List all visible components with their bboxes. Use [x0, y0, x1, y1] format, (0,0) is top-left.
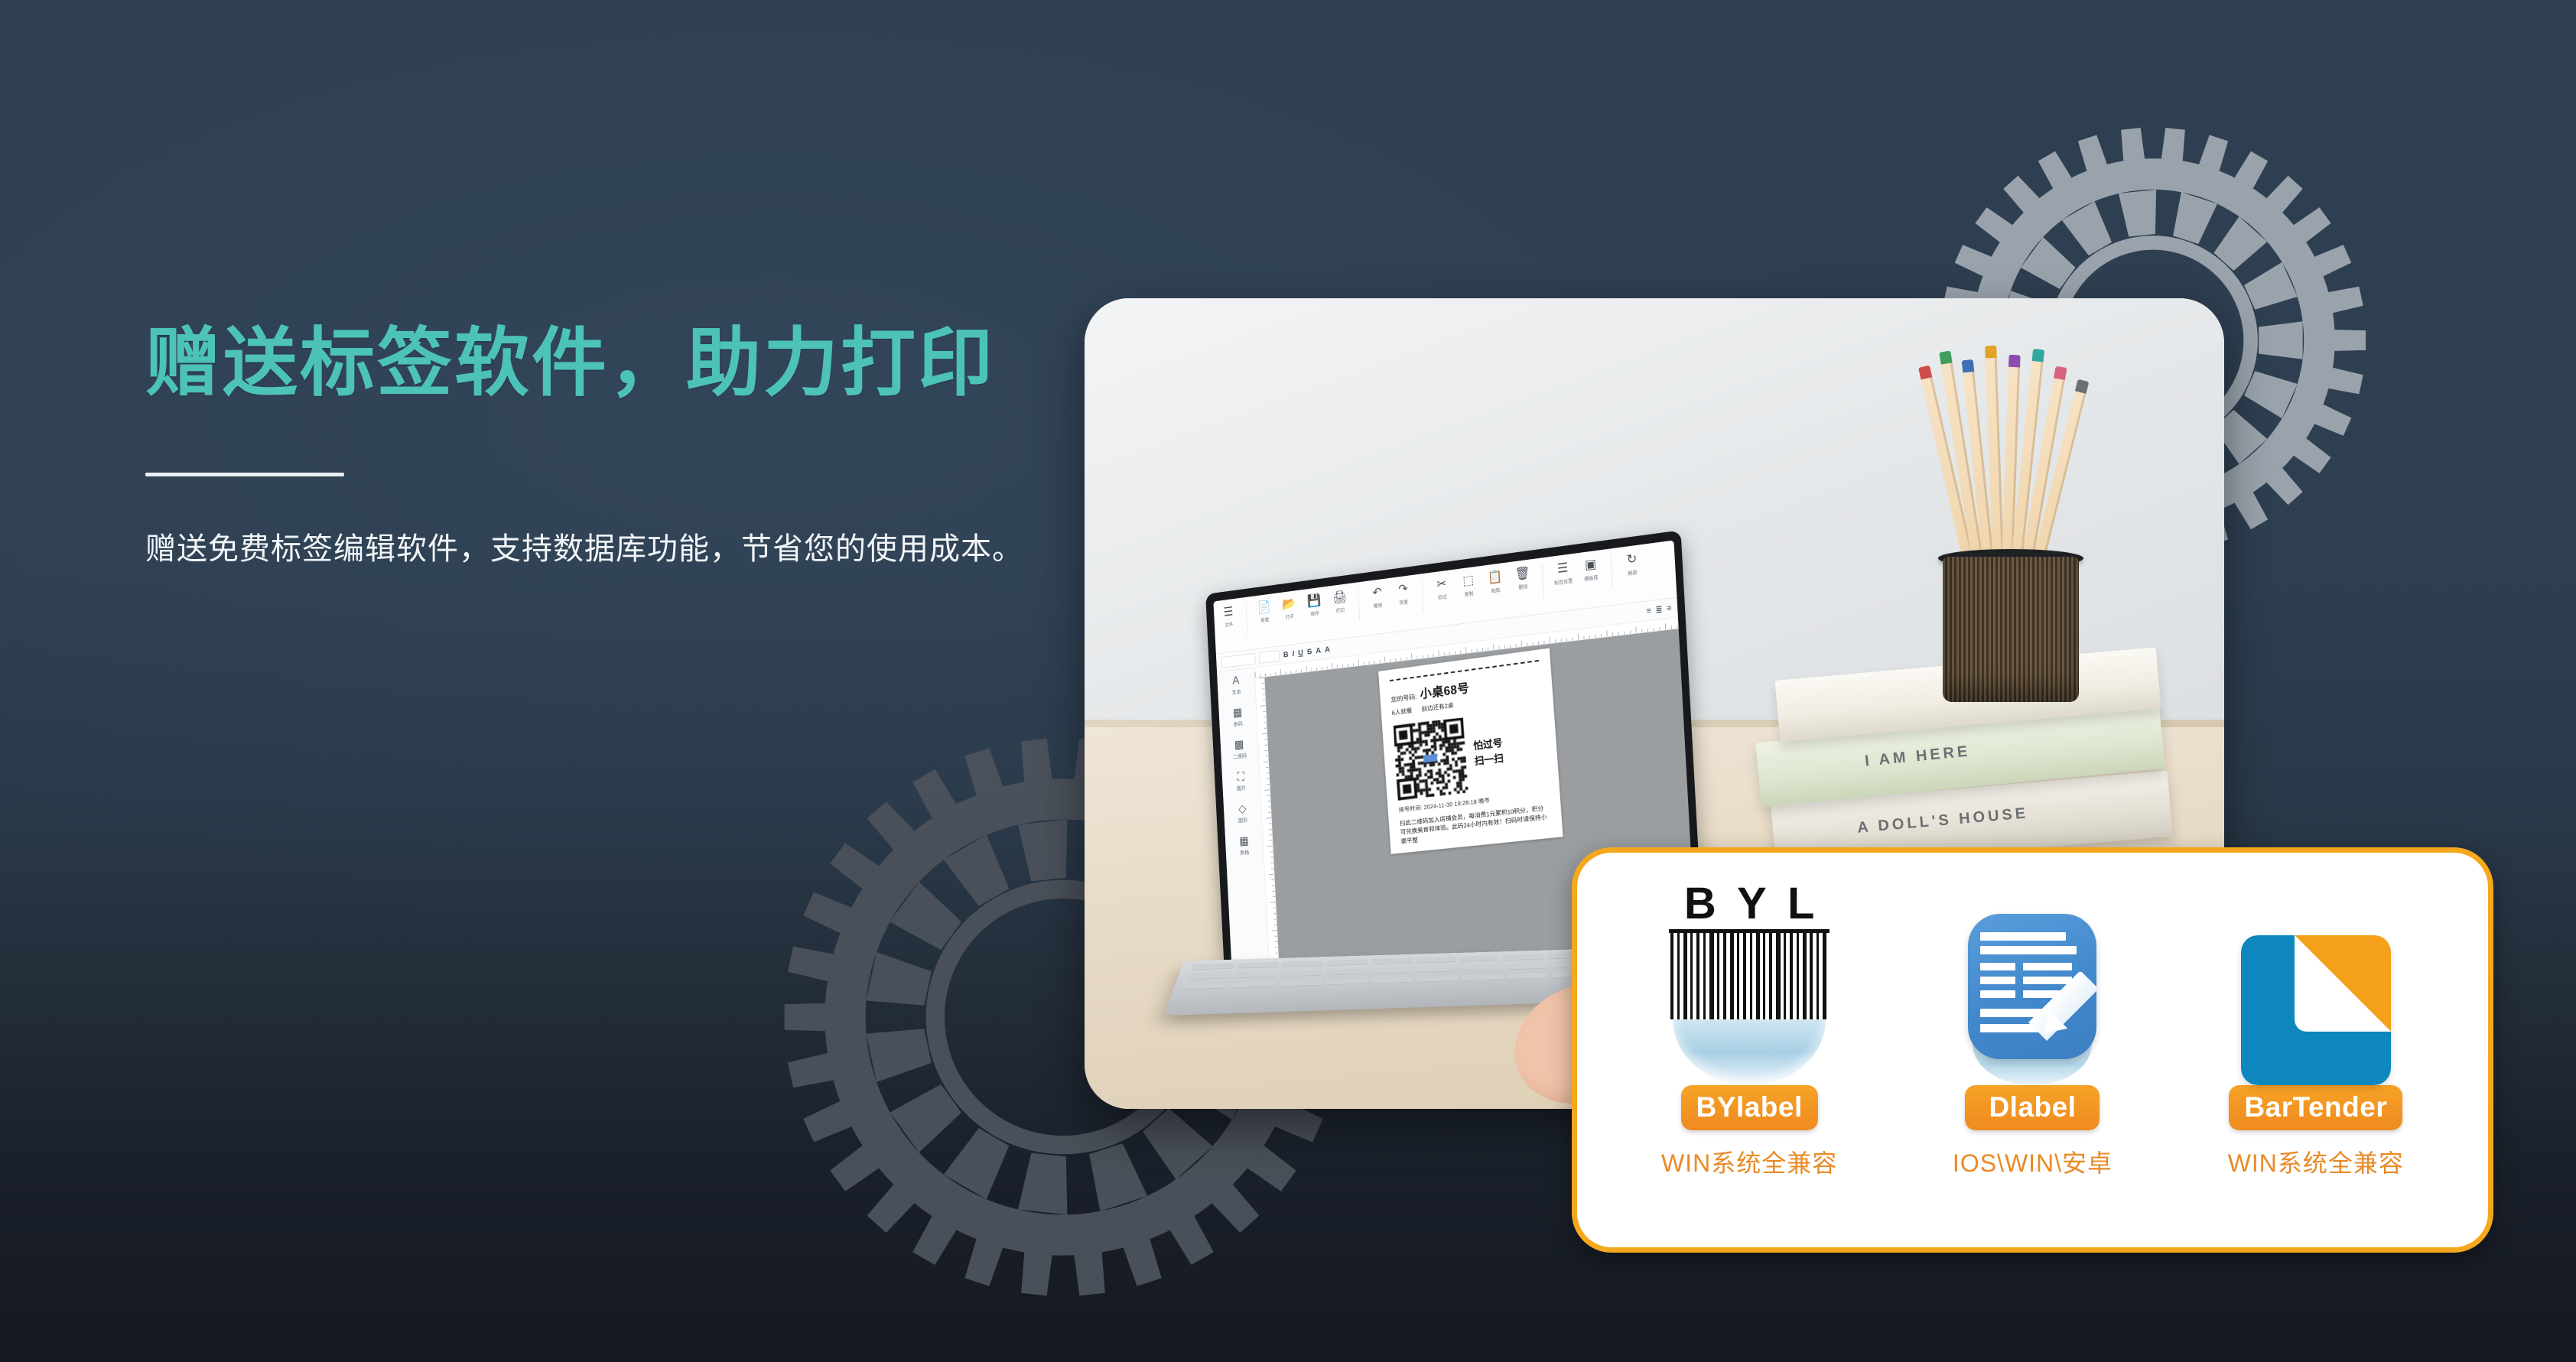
barcode-bar	[1756, 933, 1760, 1019]
ribbon-label: 新建	[1256, 616, 1273, 624]
font-size-select[interactable]	[1259, 650, 1280, 664]
ruler-tick	[1427, 655, 1428, 658]
ruler-tick	[1264, 722, 1266, 723]
ribbon-item[interactable]: ↻ 刷新	[1621, 549, 1644, 578]
text-tool-icon[interactable]: A	[1231, 675, 1241, 688]
ruler-tick	[1268, 812, 1270, 813]
ruler-tick	[1272, 930, 1277, 931]
ribbon-item[interactable]: 📄 新建	[1254, 598, 1275, 625]
ribbon-separator	[1422, 580, 1424, 613]
label-preview[interactable]: 您的号码: 小桌68号 6人就餐 前边还有2桌	[1378, 648, 1563, 853]
open-folder-icon[interactable]: 📂	[1279, 594, 1299, 613]
ruler-tick	[1455, 652, 1456, 655]
ruler-tick	[1266, 767, 1268, 768]
strikethrough-button[interactable]: S	[1307, 647, 1312, 656]
ruler-tick	[1269, 829, 1271, 830]
sidebar-tool-text[interactable]: A 文本	[1231, 675, 1241, 697]
ruler-tick	[1533, 642, 1534, 645]
ribbon-item[interactable]: 💾 保存	[1304, 591, 1325, 619]
italic-button[interactable]: I	[1292, 649, 1294, 658]
barcode-bar	[1776, 933, 1781, 1019]
ruler-tick	[1493, 644, 1494, 650]
ruler-tick	[1499, 646, 1500, 649]
ruler-tick	[1280, 669, 1281, 674]
barcode-bar	[1737, 933, 1739, 1019]
ruler-tick	[1311, 668, 1312, 671]
barcode-bar	[1709, 933, 1714, 1019]
sidebar-tool-label: 图形	[1238, 816, 1248, 824]
copy-icon[interactable]: ⬚	[1458, 570, 1479, 589]
barcode-bar	[1817, 933, 1819, 1019]
text-color-button[interactable]: A	[1316, 646, 1321, 655]
ruler-tick	[1595, 635, 1595, 638]
ruler-tick	[1263, 762, 1268, 763]
barcode-bar	[1670, 933, 1673, 1019]
keyboard-key[interactable]	[1507, 973, 1549, 980]
qr-code-icon	[1393, 717, 1469, 801]
align-left-icon[interactable]: ≡	[1646, 606, 1651, 616]
ruler-tick	[1255, 672, 1256, 678]
ribbon-label: 删除	[1514, 582, 1534, 591]
ruler-tick	[1566, 638, 1567, 641]
ruler-tick	[1275, 947, 1277, 948]
keyboard-key[interactable]	[1416, 975, 1459, 982]
ruler-tick	[1262, 694, 1264, 695]
shape-tool-icon[interactable]: ◇	[1238, 804, 1247, 816]
ruler-tick	[1647, 629, 1648, 632]
ruler-tick	[1274, 925, 1277, 925]
align-right-icon[interactable]: ≡	[1667, 603, 1672, 613]
barcode-bar	[1723, 933, 1726, 1019]
sidebar-tool-label: 二维码	[1232, 752, 1247, 761]
ruler-tick	[1433, 654, 1434, 657]
ruler-tick	[1472, 649, 1472, 652]
ruler-tick	[1358, 660, 1359, 666]
barcode-bar	[1703, 933, 1706, 1019]
ruler-tick	[1482, 648, 1483, 651]
bylabel-letters: B Y L	[1669, 882, 1830, 929]
ribbon-label: 打开	[1281, 613, 1299, 621]
ribbon-item[interactable]: ▣ 模板库	[1579, 554, 1602, 583]
barcode-bar	[1803, 933, 1807, 1019]
ruler-tick	[1270, 840, 1272, 840]
ribbon-label: 保存	[1306, 609, 1324, 619]
bartender-compatibility: WIN系统全兼容	[2190, 1144, 2442, 1179]
dlabel-compatibility: IOS\WIN\安卓	[1906, 1144, 2158, 1179]
label-time-date: 2024-11-30	[1423, 801, 1452, 811]
ruler-tick	[1264, 728, 1267, 729]
ruler-tick	[1265, 674, 1266, 677]
ruler-tick	[1659, 627, 1660, 630]
ribbon-label: 撤销	[1368, 601, 1387, 610]
ruler-tick	[1272, 879, 1274, 880]
ribbon-item[interactable]: 📋 粘贴	[1485, 567, 1507, 596]
bartender-l-logo	[2190, 894, 2442, 1085]
ruler-tick	[1275, 941, 1277, 942]
hamburger-menu-icon[interactable]: ☰	[1218, 603, 1238, 620]
ruler-tick	[1624, 632, 1625, 635]
bylabel-letter-l: L	[1787, 882, 1814, 926]
ruler-tick	[1274, 936, 1277, 937]
keyboard-key[interactable]	[1504, 963, 1546, 970]
cup-body	[1943, 557, 2079, 702]
ruler-tick	[1275, 672, 1276, 675]
software-card-dlabel[interactable]: Dlabel IOS\WIN\安卓	[1906, 894, 2158, 1179]
ruler-tick	[1273, 913, 1276, 914]
ruler-tick	[1259, 678, 1264, 679]
database-icon[interactable]: ☰	[1552, 558, 1574, 577]
ruler-tick	[1272, 891, 1274, 892]
ruler-tick	[1460, 651, 1461, 654]
ruler-tick	[1677, 625, 1678, 628]
ruler-tick	[1270, 834, 1272, 835]
ruler-tick	[1488, 647, 1488, 650]
ribbon-separator	[1542, 564, 1544, 598]
barcode-bar	[1769, 933, 1772, 1019]
ruler-tick	[1444, 652, 1445, 655]
label-party-size: 6人就餐	[1391, 706, 1412, 717]
ruler-tick	[1290, 671, 1291, 674]
barcode-tool-icon[interactable]: ▦	[1232, 707, 1242, 720]
ribbon-item[interactable]: 📂 打开	[1279, 594, 1299, 621]
ruler-tick	[1262, 688, 1264, 689]
software-logo-panel: B Y L BYlabel WIN系统全兼容	[1572, 847, 2493, 1253]
ruler-tick	[1265, 750, 1267, 751]
sidebar-tool-image[interactable]: ⛶ 图片	[1236, 772, 1247, 793]
keyboard-key[interactable]	[1371, 967, 1412, 974]
barcode-bar	[1690, 933, 1693, 1019]
ruler-tick	[1262, 683, 1264, 684]
hero-text-column: 赠送标签软件，助力打印 赠送免费标签编辑软件，支持数据库功能，节省您的使用成本。	[145, 321, 1048, 577]
ruler-tick	[1267, 846, 1273, 847]
ruler-tick	[1267, 795, 1270, 796]
ruler-tick	[1270, 673, 1271, 676]
barcode-bar	[1797, 933, 1799, 1019]
keyboard-key[interactable]	[1371, 958, 1412, 965]
ribbon-label: 模板库	[1581, 574, 1601, 583]
keyboard-key[interactable]	[1324, 978, 1366, 985]
barcode-bar	[1763, 933, 1765, 1019]
keyboard-key[interactable]	[1185, 982, 1229, 989]
label-time-clock: 19:28:18	[1454, 798, 1477, 808]
scissors-icon[interactable]: ✂	[1431, 574, 1452, 593]
ruler-tick	[1264, 717, 1266, 717]
ruler-tick	[1316, 668, 1317, 671]
ribbon-label: 打印	[1331, 606, 1349, 615]
ruler-tick	[1449, 652, 1450, 655]
ruler-tick	[1332, 663, 1332, 669]
ribbon-label: 复制	[1459, 590, 1478, 599]
software-card-bylabel[interactable]: B Y L BYlabel WIN系统全兼容	[1623, 894, 1875, 1179]
align-center-icon[interactable]: ≣	[1655, 604, 1663, 615]
ruler-tick	[1269, 874, 1274, 875]
keyboard-key[interactable]	[1326, 959, 1368, 966]
pencil-cup	[1926, 344, 2102, 696]
ruler-tick	[1272, 885, 1274, 886]
ribbon-separator	[1610, 554, 1612, 589]
underline-button[interactable]: U	[1298, 648, 1303, 658]
ribbon-item[interactable]: ↶ 撤销	[1367, 583, 1388, 610]
ruler-tick	[1260, 674, 1260, 677]
bylabel-compatibility: WIN系统全兼容	[1623, 1144, 1875, 1179]
ruler-tick	[1270, 851, 1273, 852]
ruler-tick	[1267, 801, 1270, 801]
ruler-tick	[1527, 642, 1527, 645]
ruler-tick	[1263, 711, 1265, 712]
page-title: 赠送标签软件，助力打印	[145, 321, 1048, 405]
keyboard-key[interactable]	[1460, 964, 1501, 971]
image-tool-icon[interactable]: ⛶	[1236, 772, 1246, 784]
ribbon-item[interactable]: ✂ 剪切	[1431, 574, 1452, 603]
ribbon-label: 刷新	[1622, 568, 1643, 577]
bylabel-barcode-logo: B Y L	[1623, 894, 1875, 1085]
ruler-tick	[1273, 908, 1275, 909]
keyboard-key[interactable]	[1237, 962, 1279, 969]
ruler-tick	[1322, 667, 1322, 670]
ruler-tick	[1384, 657, 1385, 663]
ribbon-separator	[1246, 603, 1248, 635]
ruler-tick	[1395, 658, 1396, 661]
bylabel-badge[interactable]: BYlabel	[1681, 1085, 1818, 1130]
label-time-key: 排号时间:	[1398, 805, 1423, 814]
ruler-tick	[1549, 637, 1550, 643]
redo-arrow-icon[interactable]: ↷	[1393, 580, 1413, 598]
keyboard-key[interactable]	[1325, 968, 1367, 975]
ruler-tick	[1273, 896, 1275, 897]
ruler-tick	[1369, 661, 1370, 665]
ribbon-item[interactable]: ↷ 恢复	[1393, 580, 1414, 607]
ruler-tick	[1406, 657, 1407, 660]
ruler-tick	[1618, 632, 1619, 635]
keyboard-key[interactable]	[1503, 954, 1544, 961]
ruler-tick	[1353, 663, 1354, 666]
ruler-tick	[1301, 669, 1302, 672]
ruler-tick	[1601, 634, 1602, 637]
qr-caption-line2: 扫一扫	[1474, 750, 1504, 769]
ruler-tick	[1286, 671, 1286, 674]
ruler-tick	[1342, 665, 1343, 668]
keyboard-key[interactable]	[1462, 974, 1504, 980]
ribbon-label: 剪切	[1433, 593, 1452, 602]
ruler-tick	[1635, 627, 1636, 633]
sidebar-tool-shape[interactable]: ◇ 图形	[1238, 804, 1248, 825]
ruler-tick	[1270, 902, 1276, 902]
ruler-tick	[1438, 650, 1439, 656]
barcode-bar	[1790, 933, 1793, 1019]
save-disk-icon[interactable]: 💾	[1304, 591, 1324, 609]
ruler-tick	[1641, 629, 1642, 632]
bartender-orange-triangle	[2295, 935, 2391, 1032]
ruler-tick	[1606, 630, 1607, 636]
hero-banner: 赠送标签软件，助力打印 赠送免费标签编辑软件，支持数据库功能，节省您的使用成本。…	[0, 0, 2576, 1362]
ruler-tick	[1267, 784, 1269, 785]
keyboard-key[interactable]	[1280, 970, 1322, 977]
keyboard-key[interactable]	[1416, 966, 1457, 973]
ruler-tick	[1374, 661, 1374, 664]
keyboard-key[interactable]	[1278, 980, 1321, 987]
new-document-icon[interactable]: 📄	[1254, 598, 1274, 616]
ruler-tick	[1337, 665, 1338, 668]
font-family-select[interactable]	[1221, 652, 1256, 668]
ruler-tick	[1555, 639, 1556, 642]
keyboard-key[interactable]	[1234, 971, 1277, 978]
ruler-tick	[1268, 806, 1270, 807]
sidebar-tool-label: 表格	[1240, 848, 1250, 857]
ruler-tick	[1264, 739, 1267, 740]
ruler-tick	[1516, 644, 1517, 647]
ruler-tick	[1612, 632, 1613, 635]
keyboard-key[interactable]	[1231, 981, 1275, 988]
sidebar-tool-label: 图片	[1237, 784, 1247, 792]
ruler-tick	[1543, 641, 1544, 644]
ribbon-item[interactable]: 🗑 删除	[1511, 564, 1534, 592]
ruler-tick	[1264, 789, 1270, 791]
dlabel-badge[interactable]: Dlabel	[1965, 1085, 2100, 1130]
bylabel-letter-b: B	[1684, 882, 1716, 926]
ruler-tick	[1538, 642, 1539, 645]
keyboard-key[interactable]	[1416, 957, 1456, 964]
ruler-tick	[1561, 639, 1562, 642]
ruler-tick	[1267, 779, 1269, 779]
sidebar-tool-qrcode[interactable]: ▩ 二维码	[1232, 739, 1247, 760]
ruler-tick	[1270, 857, 1273, 858]
sidebar-tool-label: 文本	[1231, 688, 1241, 696]
paste-icon[interactable]: 📋	[1485, 567, 1506, 587]
highlight-button[interactable]: A	[1325, 645, 1330, 654]
ruler-tick	[1379, 660, 1380, 663]
ruler-tick	[1477, 648, 1478, 652]
ruler-tick	[1271, 863, 1273, 863]
keyboard-key[interactable]	[1282, 961, 1323, 967]
ruler-tick	[1422, 655, 1423, 658]
ribbon-label: 粘贴	[1486, 586, 1506, 595]
keyboard-key[interactable]	[1459, 955, 1500, 962]
title-divider	[145, 473, 344, 476]
keyboard-key[interactable]	[1371, 977, 1413, 983]
sidebar-tool-label: 条码	[1233, 720, 1243, 728]
barcode-bar	[1683, 933, 1687, 1019]
software-card-bartender[interactable]: BarTender WIN系统全兼容	[2190, 894, 2442, 1179]
label-number-key: 您的号码:	[1390, 691, 1417, 704]
ruler-tick	[1271, 868, 1273, 869]
keyboard-key[interactable]	[1192, 963, 1234, 970]
sidebar-tool-table[interactable]: ▦ 表格	[1239, 836, 1250, 857]
ruler-tick	[1510, 645, 1511, 648]
qrcode-tool-icon[interactable]: ▩	[1232, 739, 1247, 752]
refresh-icon[interactable]: ↻	[1621, 549, 1644, 568]
ruler-tick	[1416, 655, 1417, 658]
hero-subcopy: 赠送免费标签编辑软件，支持数据库功能，节省您的使用成本。	[145, 521, 1048, 577]
ruler-tick	[1348, 664, 1348, 667]
ruler-tick	[1465, 647, 1466, 653]
barcode-bar	[1717, 933, 1719, 1019]
qr-caption: 怕过号 扫一扫	[1472, 735, 1504, 769]
ribbon-item[interactable]: ⬚ 复制	[1458, 570, 1480, 599]
dlabel-document-pencil-logo	[1906, 894, 2158, 1085]
label-time-session: 晚市	[1478, 797, 1489, 805]
printer-icon[interactable]: 🖨	[1329, 588, 1350, 606]
ruler-tick	[1504, 645, 1505, 648]
ruler-tick	[1400, 658, 1401, 661]
ribbon-item[interactable]: ☰ 标签设置	[1552, 558, 1575, 587]
bylabel-letter-y: Y	[1737, 882, 1767, 926]
ruler-tick	[1411, 653, 1412, 659]
ruler-tick	[1273, 918, 1276, 919]
dlabel-app-icon	[1968, 914, 2096, 1059]
ruler-tick	[1327, 666, 1328, 669]
ruler-tick	[1275, 953, 1277, 954]
barcode-bar	[1823, 933, 1826, 1019]
label-number-value: 小桌68号	[1419, 678, 1469, 702]
ribbon-separator	[1358, 588, 1360, 621]
ruler-tick	[1583, 636, 1584, 639]
ruler-tick	[1306, 666, 1306, 671]
ruler-tick	[1665, 623, 1666, 629]
ruler-tick	[1263, 700, 1265, 701]
ribbon-label: 恢复	[1394, 598, 1413, 607]
barcode-bar	[1750, 933, 1752, 1019]
bold-button[interactable]: B	[1283, 650, 1289, 659]
logo-bowl-shadow	[1673, 1019, 1826, 1085]
barcode-bar	[1784, 933, 1786, 1019]
ruler-tick	[1572, 637, 1573, 640]
ruler-tick	[1630, 631, 1631, 634]
keyboard-key[interactable]	[1188, 973, 1231, 980]
barcode-bar	[1677, 933, 1680, 1019]
ruler-tick	[1589, 635, 1590, 639]
ruler-tick	[1578, 634, 1579, 640]
ruler-tick	[1267, 772, 1269, 773]
barcode-bar	[1743, 933, 1746, 1019]
ruler-tick	[1521, 640, 1522, 646]
barcode-bar	[1696, 933, 1699, 1019]
ruler-tick	[1296, 670, 1296, 673]
table-tool-icon[interactable]: ▦	[1239, 836, 1249, 848]
sidebar-tool-barcode[interactable]: ▦ 条码	[1232, 707, 1243, 729]
ribbon-label: 文件	[1220, 620, 1238, 629]
ruler-tick	[1266, 818, 1271, 819]
ruler-tick	[1260, 705, 1266, 707]
ruler-tick	[1390, 659, 1390, 662]
ribbon-item[interactable]: 🖨 打印	[1329, 588, 1350, 616]
undo-arrow-icon[interactable]: ↶	[1367, 583, 1387, 601]
ruler-tick	[1269, 823, 1271, 824]
label-queue-ahead: 前边还有2桌	[1421, 701, 1454, 714]
ruler-tick	[1654, 628, 1654, 631]
ruler-tick	[1364, 662, 1364, 665]
ruler-tick	[1671, 626, 1672, 629]
template-icon[interactable]: ▣	[1579, 554, 1602, 574]
ruler-tick	[1265, 745, 1267, 746]
ribbon-label: 标签设置	[1553, 577, 1573, 587]
ruler-tick	[1262, 733, 1267, 735]
ribbon-item[interactable]: ☰ 文件	[1218, 603, 1238, 629]
bartender-app-icon	[2241, 935, 2391, 1085]
barcode-bar	[1730, 933, 1734, 1019]
barcode-bar	[1810, 933, 1813, 1019]
barcode-bars-icon	[1669, 929, 1830, 1019]
ruler-tick	[1265, 756, 1267, 756]
delete-trash-icon[interactable]: 🗑	[1511, 564, 1534, 583]
bartender-badge[interactable]: BarTender	[2229, 1085, 2402, 1130]
label-qr-row: 怕过号 扫一扫	[1393, 707, 1548, 801]
